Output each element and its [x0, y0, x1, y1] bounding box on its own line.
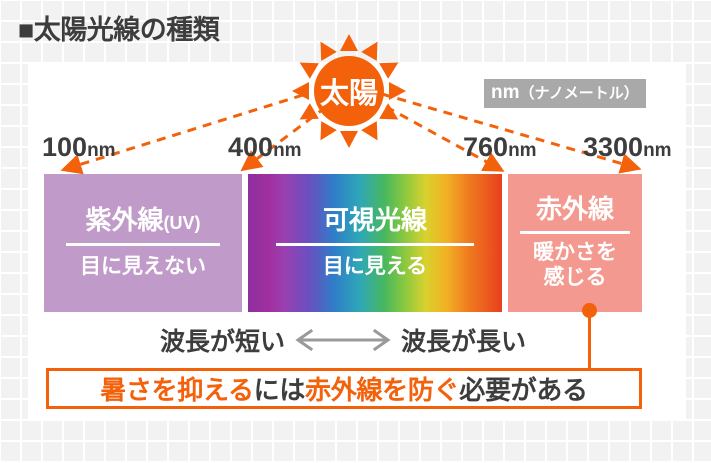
nm-tick-400-unit: nm	[273, 140, 302, 161]
nm-tick-400-value: 400	[228, 132, 273, 162]
nm-tick-3300-unit: nm	[643, 140, 672, 161]
infographic-root: ■太陽光線の種類	[0, 0, 711, 463]
band-ultraviolet-suffix: (UV)	[164, 213, 201, 233]
band-ultraviolet-description: 目に見えない	[80, 254, 206, 280]
conclusion-segment-2: には	[254, 375, 305, 405]
nm-tick-760-unit: nm	[508, 140, 537, 161]
band-visible-light-title: 可視光線	[323, 206, 427, 236]
nm-tick-100: 100nm	[42, 134, 116, 161]
callout-connector-line	[588, 310, 591, 369]
band-ultraviolet: 紫外線(UV) 目に見えない	[44, 174, 242, 312]
conclusion-segment-1: 暑さを抑える	[100, 375, 253, 405]
band-visible-light-name: 可視光線	[323, 205, 427, 235]
band-visible-light-divider	[276, 243, 474, 246]
sun-icon: 太陽	[291, 33, 407, 149]
band-ultraviolet-name: 紫外線	[85, 205, 163, 235]
band-ultraviolet-divider	[66, 243, 220, 246]
nm-tick-100-unit: nm	[87, 140, 116, 161]
conclusion-segment-3: 赤外線を防ぐ	[305, 375, 459, 405]
callout-connector-dot	[582, 303, 597, 318]
nm-tick-3300: 3300nm	[583, 134, 672, 161]
conclusion-segment-4: 必要がある	[459, 375, 588, 405]
nm-tick-100-value: 100	[42, 132, 87, 162]
wavelength-direction-row: 波長が短い 波長が長い	[44, 320, 642, 360]
nm-tick-760-value: 760	[463, 132, 508, 162]
band-infrared-name: 赤外線	[536, 194, 614, 224]
nm-tick-3300-value: 3300	[583, 132, 643, 162]
band-infrared-divider	[520, 231, 630, 234]
band-infrared-description-line2: 感じる	[544, 265, 607, 291]
band-infrared: 赤外線 暖かさを 感じる	[508, 174, 642, 312]
conclusion-callout: 暑さを抑えるには赤外線を防ぐ必要がある	[46, 368, 642, 409]
band-ultraviolet-title: 紫外線(UV)	[85, 206, 200, 236]
band-infrared-description-line1: 暖かさを	[533, 240, 617, 266]
band-infrared-title: 赤外線	[536, 195, 614, 225]
wavelength-long-label: 波長が長い	[401, 322, 526, 358]
nm-legend-badge: nm（ナノメートル）	[484, 79, 646, 108]
nm-tick-400: 400nm	[228, 134, 302, 161]
band-visible-light: 可視光線 目に見える	[248, 174, 502, 312]
wavelength-short-label: 波長が短い	[160, 322, 285, 358]
nm-tick-760: 760nm	[463, 134, 537, 161]
double-arrow-icon	[287, 327, 399, 353]
nm-legend-unit: nm	[491, 82, 520, 103]
nm-legend-reading: （ナノメートル）	[520, 85, 639, 102]
page-title: ■太陽光線の種類	[18, 14, 219, 46]
conclusion-callout-text: 暑さを抑えるには赤外線を防ぐ必要がある	[100, 370, 588, 407]
band-visible-light-description: 目に見える	[323, 254, 427, 280]
